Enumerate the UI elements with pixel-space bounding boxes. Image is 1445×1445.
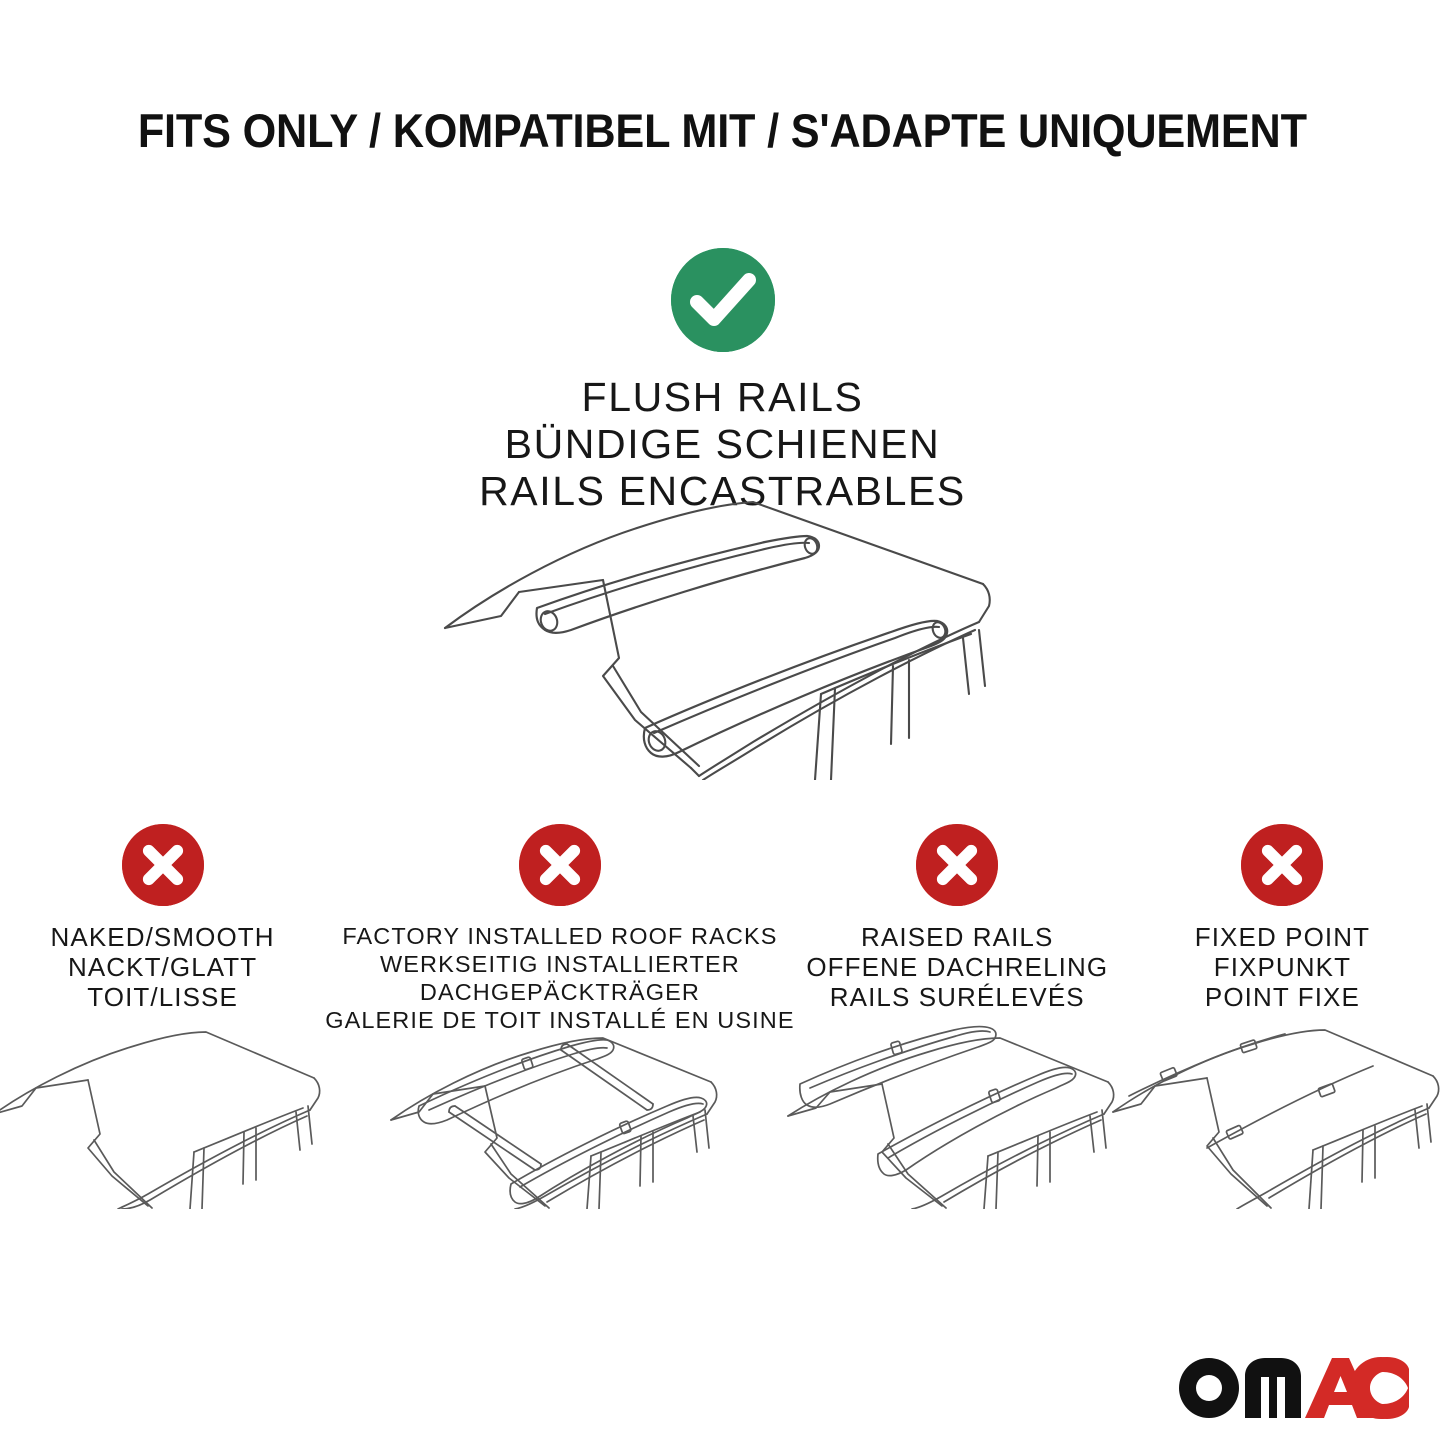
- compatible-label-en: FLUSH RAILS: [0, 374, 1445, 421]
- x-mark-glyph: [519, 824, 601, 906]
- omac-logo: [1177, 1349, 1409, 1423]
- incompatible-labels: NAKED/SMOOTH NACKT/GLATT TOIT/LISSE: [0, 922, 325, 1012]
- incompatible-section: NAKED/SMOOTH NACKT/GLATT TOIT/LISSE: [0, 824, 1445, 1034]
- car-roof-naked-smooth-illustration: [0, 1024, 338, 1209]
- car-roof-raised-rails-illustration: [782, 1024, 1132, 1209]
- car-roof-fixed-point-illustration: [1107, 1024, 1445, 1209]
- logo-letter-m: [1245, 1358, 1301, 1418]
- label-en: FACTORY INSTALLED ROOF RACKS: [325, 922, 794, 950]
- label-de: OFFENE DACHRELING: [795, 952, 1120, 982]
- label-de: FIXPUNKT: [1120, 952, 1445, 982]
- label-fr: RAILS SURÉLEVÉS: [795, 982, 1120, 1012]
- x-mark-glyph: [916, 824, 998, 906]
- page-title-text: FITS ONLY / KOMPATIBEL MIT / S'ADAPTE UN…: [138, 104, 1307, 158]
- x-mark-glyph: [122, 824, 204, 906]
- label-de: NACKT/GLATT: [0, 952, 325, 982]
- x-circle-icon: [519, 824, 601, 906]
- compatible-label-de: BÜNDIGE SCHIENEN: [0, 421, 1445, 468]
- label-de-2: DACHGEPÄCKTRÄGER: [325, 978, 794, 1006]
- label-en: NAKED/SMOOTH: [0, 922, 325, 952]
- compatible-section: FLUSH RAILS BÜNDIGE SCHIENEN RAILS ENCAS…: [0, 248, 1445, 515]
- x-circle-icon: [122, 824, 204, 906]
- incompatible-item-raised-rails: RAISED RAILS OFFENE DACHRELING RAILS SUR…: [795, 824, 1120, 1034]
- incompatible-labels: RAISED RAILS OFFENE DACHRELING RAILS SUR…: [795, 922, 1120, 1012]
- incompatible-item-factory-racks: FACTORY INSTALLED ROOF RACKS WERKSEITIG …: [325, 824, 794, 1034]
- label-fr: POINT FIXE: [1120, 982, 1445, 1012]
- car-roof-factory-racks-illustration: [385, 1024, 735, 1209]
- label-de-1: WERKSEITIG INSTALLIERTER: [325, 950, 794, 978]
- x-mark-glyph: [1241, 824, 1323, 906]
- check-circle-icon: [671, 248, 775, 352]
- logo-letter-c: [1350, 1357, 1409, 1419]
- label-en: FIXED POINT: [1120, 922, 1445, 952]
- page-title: FITS ONLY / KOMPATIBEL MIT / S'ADAPTE UN…: [0, 104, 1445, 158]
- incompatible-item-naked-smooth: NAKED/SMOOTH NACKT/GLATT TOIT/LISSE: [0, 824, 325, 1034]
- x-circle-icon: [1241, 824, 1323, 906]
- check-mark-glyph: [671, 248, 775, 352]
- incompatible-labels: FIXED POINT FIXPUNKT POINT FIXE: [1120, 922, 1445, 1012]
- incompatible-labels: FACTORY INSTALLED ROOF RACKS WERKSEITIG …: [325, 922, 794, 1034]
- incompatible-item-fixed-point: FIXED POINT FIXPUNKT POINT FIXE: [1120, 824, 1445, 1034]
- logo-letter-o: [1179, 1358, 1239, 1418]
- x-circle-icon: [916, 824, 998, 906]
- label-fr: TOIT/LISSE: [0, 982, 325, 1012]
- car-roof-flush-rails-illustration: [423, 480, 1023, 780]
- fixed-point-cover: [1318, 1084, 1335, 1098]
- label-en: RAISED RAILS: [795, 922, 1120, 952]
